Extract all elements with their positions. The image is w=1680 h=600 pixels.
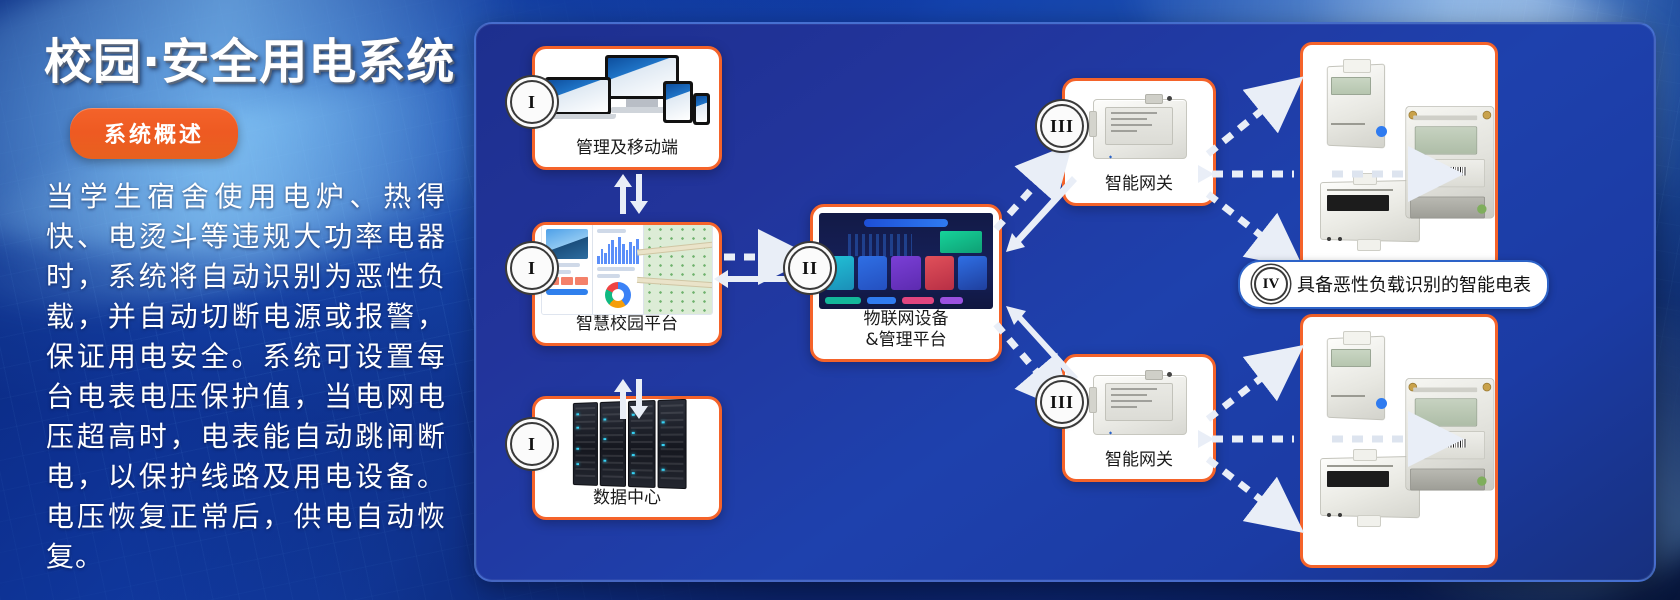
badge-node-admin-mobile: I (510, 80, 554, 124)
architecture-diagram-panel: 管理及移动端 I (474, 22, 1656, 582)
section-pill-overview: 系统概述 (70, 108, 238, 159)
badge-meter-group: IV (1254, 267, 1288, 301)
meter-group-label-text: 具备恶性负载识别的智能电表 (1297, 271, 1531, 297)
overview-body-text: 当学生宿舍使用电炉、热得快、电烫斗等违规大功率电器时，系统将自动识别为恶性负载，… (46, 177, 446, 577)
badge-node-campus-platform: I (510, 246, 554, 290)
meter-group-label[interactable]: IV 具备恶性负载识别的智能电表 (1238, 260, 1549, 309)
badge-node-gateway-top: III (1040, 104, 1084, 148)
poster-stage: 校园·安全用电系统 系统概述 当学生宿舍使用电炉、热得快、电烫斗等违规大功率电器… (0, 0, 1680, 600)
badge-node-gateway-bottom: III (1040, 380, 1084, 424)
badge-node-iot-platform: II (788, 246, 832, 290)
badge-node-data-center: I (510, 422, 554, 466)
left-column: 校园·安全用电系统 系统概述 当学生宿舍使用电炉、热得快、电烫斗等违规大功率电器… (30, 14, 460, 577)
page-title: 校园·安全用电系统 (44, 22, 460, 92)
